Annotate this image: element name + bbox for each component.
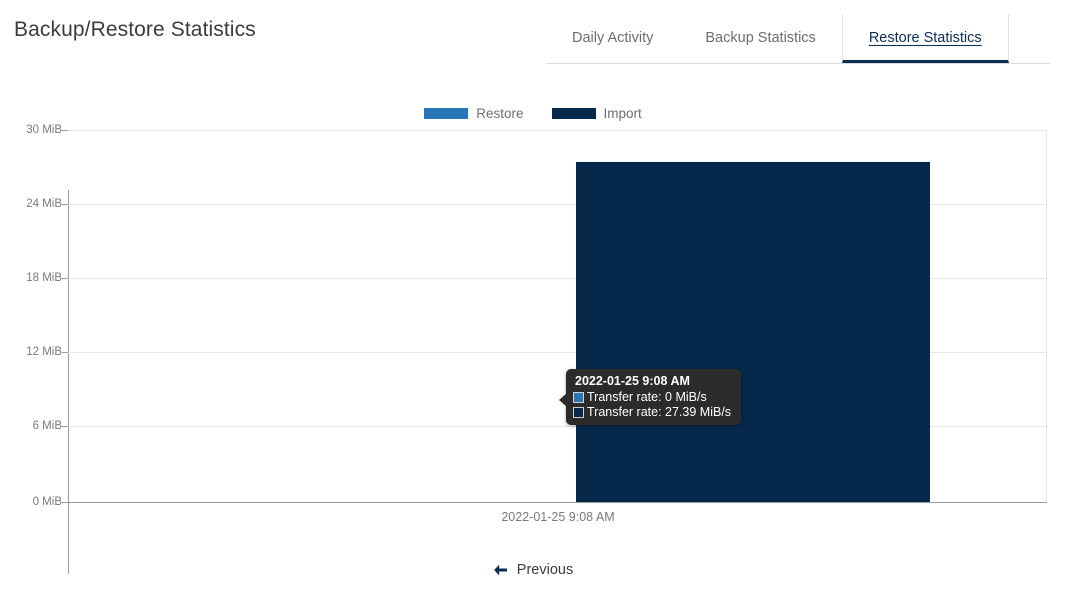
tab-label: Restore Statistics: [869, 30, 982, 46]
chart-legend: Restore Import: [0, 106, 1066, 121]
tooltip-value-import: Transfer rate: 27.39 MiB/s: [587, 405, 731, 419]
tooltip-value-restore: Transfer rate: 0 MiB/s: [587, 390, 707, 404]
tooltip-pointer-icon: [559, 393, 567, 407]
y-axis-tick-label: 24 MiB: [0, 198, 62, 210]
plot-region: [68, 130, 1047, 502]
y-axis-tick-label: 12 MiB: [0, 346, 62, 358]
x-axis-line: [68, 502, 1047, 503]
y-axis-labels: 30 MiB 24 MiB 18 MiB 12 MiB 6 MiB 0 MiB: [0, 66, 62, 546]
tab-label: Backup Statistics: [705, 30, 815, 46]
x-axis-tick-label: 2022-01-25 9:08 AM: [501, 510, 614, 524]
gridline-vertical: [1046, 130, 1047, 502]
tab-restore-statistics[interactable]: Restore Statistics: [842, 14, 1009, 63]
legend-label-restore: Restore: [476, 106, 523, 121]
y-axis-tick-label: 30 MiB: [0, 124, 62, 136]
chart-tooltip: 2022-01-25 9:08 AM Transfer rate: 0 MiB/…: [566, 369, 741, 425]
legend-label-import: Import: [604, 106, 642, 121]
tab-daily-activity[interactable]: Daily Activity: [546, 14, 679, 63]
bar-import[interactable]: [576, 162, 930, 502]
arrow-left-icon: [493, 563, 508, 577]
gridline: [68, 130, 1047, 131]
tab-label: Daily Activity: [572, 30, 653, 46]
y-axis-tick-label: 0 MiB: [0, 496, 62, 508]
tooltip-swatch-restore: [573, 392, 584, 403]
page-title: Backup/Restore Statistics: [14, 18, 256, 42]
restore-statistics-chart: Restore Import 30 MiB 24 MiB 18 MiB 12 M…: [0, 66, 1066, 546]
previous-button[interactable]: Previous: [489, 560, 577, 580]
page-header: Backup/Restore Statistics Daily Activity…: [0, 0, 1066, 66]
legend-item-restore[interactable]: Restore: [424, 106, 523, 121]
chart-pagination: Previous: [0, 560, 1066, 602]
y-axis-tick-label: 6 MiB: [0, 420, 62, 432]
x-axis-labels: 2022-01-25 9:08 AM: [68, 510, 1047, 534]
legend-item-import[interactable]: Import: [552, 106, 642, 121]
previous-label: Previous: [517, 562, 573, 578]
tab-backup-statistics[interactable]: Backup Statistics: [679, 14, 841, 63]
tooltip-title: 2022-01-25 9:08 AM: [573, 374, 731, 388]
legend-swatch-restore: [424, 108, 468, 119]
tooltip-row-restore: Transfer rate: 0 MiB/s: [573, 390, 731, 404]
y-axis-tick-label: 18 MiB: [0, 272, 62, 284]
tooltip-row-import: Transfer rate: 27.39 MiB/s: [573, 405, 731, 419]
tooltip-swatch-import: [573, 407, 584, 418]
tab-bar: Daily Activity Backup Statistics Restore…: [546, 14, 1050, 64]
legend-swatch-import: [552, 108, 596, 119]
